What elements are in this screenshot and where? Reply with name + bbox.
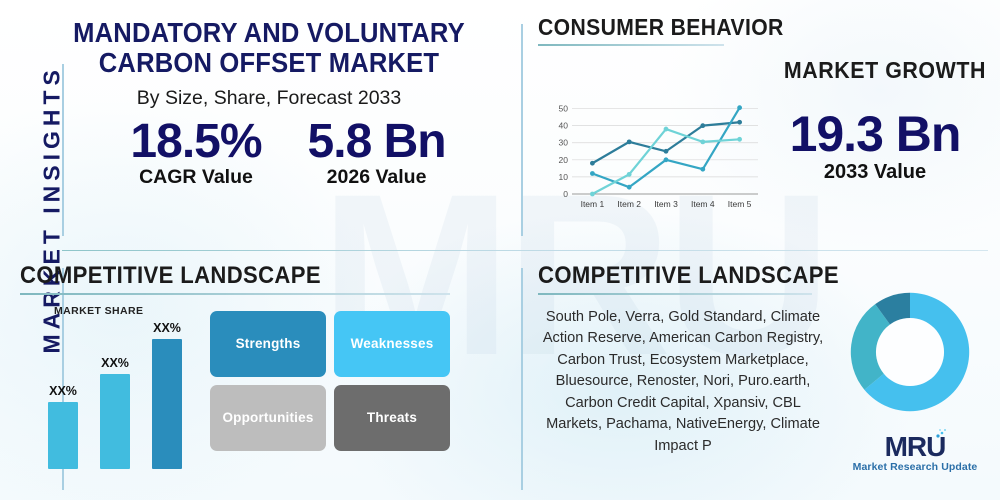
infographic-root: MRU MARKET INSIGHTS MANDATORY AND VOLUNT…	[0, 0, 1000, 500]
data-point	[664, 126, 669, 131]
competitive-landscape-left-block: COMPETITIVE LANDSCAPE MARKET SHARE XX%XX…	[20, 262, 518, 490]
data-point	[627, 171, 632, 176]
mru-logo: MRU Market Research Update	[852, 432, 978, 473]
data-point	[664, 148, 669, 153]
swot-threats-label: Threats	[367, 410, 417, 425]
market-share-and-swot: MARKET SHARE XX%XX%XX% Strengths Weaknes…	[20, 305, 518, 469]
competitive-landscape-left-heading: COMPETITIVE LANDSCAPE	[20, 262, 478, 290]
market-growth-line-chart: 01020304050Item 1Item 2Item 3Item 4Item …	[546, 94, 764, 214]
swot-opportunities-label: Opportunities	[222, 410, 313, 425]
data-point	[590, 160, 595, 165]
vertical-divider-bottom	[521, 268, 523, 490]
page-subtitle: By Size, Share, Forecast 2033	[20, 87, 518, 110]
heading-rule-right	[538, 293, 812, 295]
heading-rule-left	[20, 293, 450, 295]
bar	[152, 339, 182, 468]
stat-2026-value: 5.8 Bn	[308, 116, 446, 168]
data-point	[664, 157, 669, 162]
stat-cagr-label: CAGR Value	[130, 166, 261, 189]
line-series	[592, 107, 739, 186]
page-title: MANDATORY AND VOLUNTARY CARBON OFFSET MA…	[37, 18, 500, 78]
swot-opportunities[interactable]: Opportunities	[210, 385, 326, 451]
company-list: South Pole, Verra, Gold Standard, Climat…	[538, 307, 828, 458]
line-chart-svg: 01020304050Item 1Item 2Item 3Item 4Item …	[546, 94, 764, 214]
y-axis-tick: 50	[559, 103, 569, 113]
data-point	[627, 139, 632, 144]
bar-value-label: XX%	[101, 356, 129, 370]
bar	[48, 402, 78, 469]
vertical-divider-top	[521, 24, 523, 236]
y-axis-tick: 20	[559, 154, 569, 164]
title-block: MANDATORY AND VOLUNTARY CARBON OFFSET MA…	[20, 10, 518, 238]
consumer-behavior-body: 01020304050Item 1Item 2Item 3Item 4Item …	[538, 94, 986, 214]
data-point	[737, 136, 742, 141]
swot-strengths[interactable]: Strengths	[210, 311, 326, 377]
data-point	[590, 171, 595, 176]
consumer-behavior-block: CONSUMER BEHAVIOR MARKET GROWTH 01020304…	[538, 14, 986, 238]
swot-weaknesses[interactable]: Weaknesses	[334, 311, 450, 377]
donut-hole	[876, 318, 944, 386]
bar	[100, 374, 130, 468]
market-share-label: MARKET SHARE	[54, 305, 198, 317]
data-point	[700, 139, 705, 144]
logo-tagline: Market Research Update	[852, 461, 978, 473]
heading-rule	[538, 44, 724, 46]
x-axis-tick: Item 1	[581, 199, 605, 209]
y-axis-tick: 10	[559, 171, 569, 181]
competitive-landscape-right-block: COMPETITIVE LANDSCAPE South Pole, Verra,…	[538, 262, 828, 490]
donut-svg	[836, 278, 984, 426]
y-axis-tick: 30	[559, 137, 569, 147]
stat-2033-label: 2033 Value	[764, 161, 986, 184]
bar-value-label: XX%	[153, 321, 181, 335]
swot-strengths-label: Strengths	[236, 336, 301, 351]
horizontal-divider	[62, 250, 988, 251]
market-growth-title: MARKET GROWTH	[569, 57, 986, 84]
data-point	[590, 191, 595, 196]
data-point	[737, 105, 742, 110]
swot-weaknesses-label: Weaknesses	[351, 336, 434, 351]
headline-stats: 18.5% CAGR Value 5.8 Bn 2026 Value	[20, 116, 518, 189]
data-point	[627, 184, 632, 189]
stat-2026-label: 2026 Value	[308, 166, 446, 189]
consumer-behavior-heading: CONSUMER BEHAVIOR	[538, 14, 950, 41]
swot-grid: Strengths Weaknesses Opportunities Threa…	[210, 311, 450, 451]
y-axis-tick: 0	[563, 189, 568, 199]
bar-value-label: XX%	[49, 384, 77, 398]
stat-cagr: 18.5% CAGR Value	[130, 116, 261, 189]
market-share-donut-chart	[836, 278, 984, 428]
stat-2033: 19.3 Bn 2033 Value	[764, 108, 986, 184]
stat-cagr-value: 18.5%	[130, 116, 261, 168]
competitive-landscape-right-heading: COMPETITIVE LANDSCAPE	[538, 262, 805, 290]
x-axis-tick: Item 3	[654, 199, 678, 209]
logo-dots-icon	[933, 426, 949, 442]
x-axis-tick: Item 2	[617, 199, 641, 209]
data-point	[737, 119, 742, 124]
x-axis-tick: Item 4	[691, 199, 715, 209]
x-axis-tick: Item 5	[728, 199, 752, 209]
logo-mark: MRU	[885, 432, 946, 462]
y-axis-tick: 40	[559, 120, 569, 130]
swot-threats[interactable]: Threats	[334, 385, 450, 451]
stat-2033-value: 19.3 Bn	[764, 108, 986, 160]
stat-2026: 5.8 Bn 2026 Value	[308, 116, 446, 189]
data-point	[700, 166, 705, 171]
data-point	[700, 123, 705, 128]
market-share-bar-chart: XX%XX%XX%	[20, 317, 188, 469]
